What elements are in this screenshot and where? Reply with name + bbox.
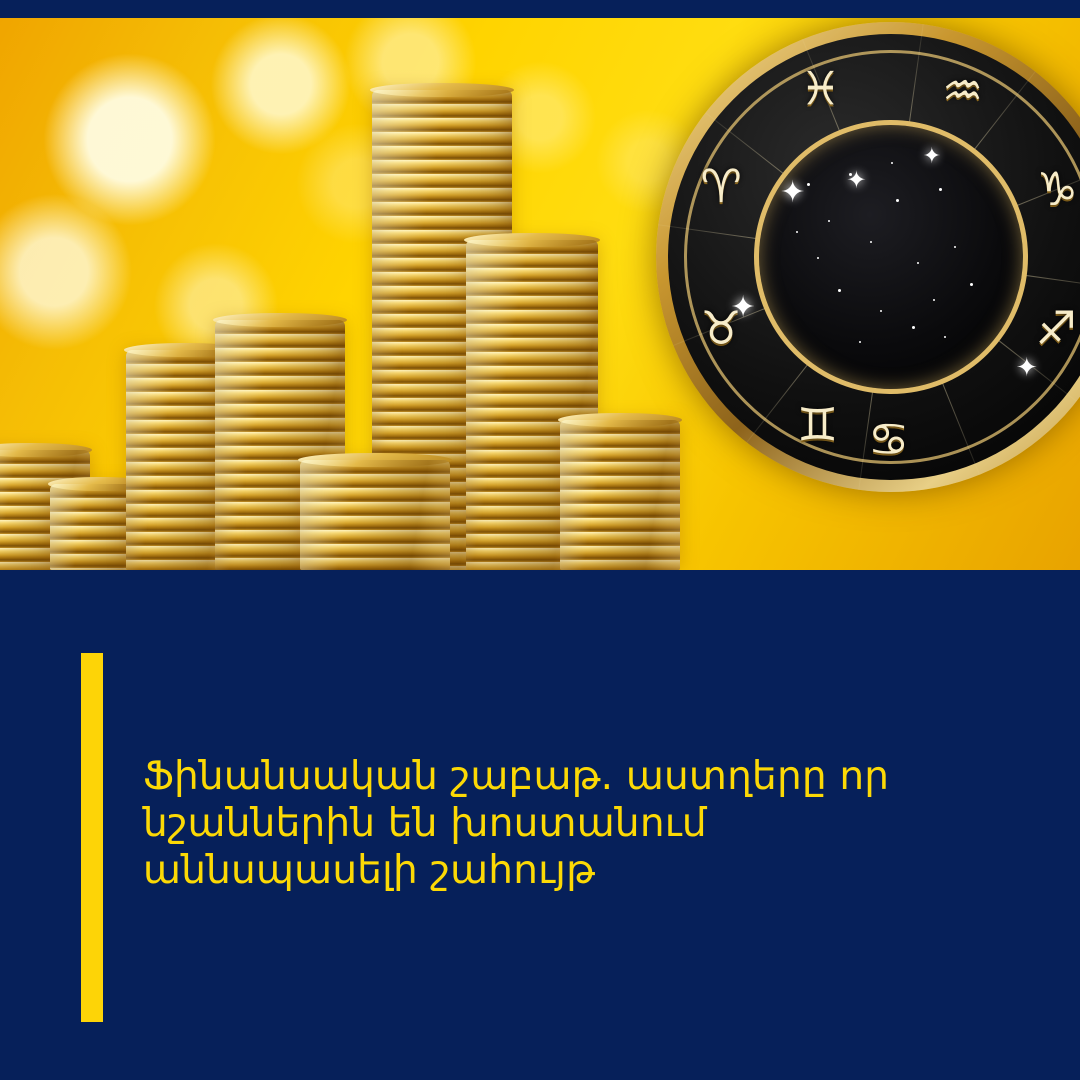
- sparkle-icon: ✦: [730, 293, 755, 323]
- coin-stack-right: [560, 420, 680, 570]
- social-post-card: ♐ ♑ ♒ ♓ ♈ ♉ ♊ ♋: [0, 0, 1080, 1080]
- zodiac-sign-pisces-icon: ♓: [800, 65, 841, 111]
- zodiac-sign-aries-icon: ♈: [700, 163, 741, 209]
- headline-line-1: Ֆինանսական շաբաթ. աստղերը որ: [143, 753, 1003, 800]
- headline-line-3: աննսպասելի շահույթ: [143, 847, 1003, 894]
- page-title: Ֆինանսական շաբաթ. աստղերը որ նշաններին ե…: [143, 753, 1003, 894]
- zodiac-sign-aquarius-icon: ♒: [942, 68, 983, 114]
- zodiac-starfield-disc: ✦ ✦: [754, 120, 1028, 394]
- coin-stack-foreground: [300, 460, 450, 570]
- zodiac-sign-capricorn-icon: ♑: [1037, 166, 1078, 212]
- headline-line-2: նշաններին են խոստանում: [143, 800, 1003, 847]
- zodiac-sign-sagittarius-icon: ♐: [1036, 305, 1077, 351]
- sparkle-icon: ✦: [923, 146, 941, 168]
- hero-image: ♐ ♑ ♒ ♓ ♈ ♉ ♊ ♋: [0, 18, 1080, 570]
- sparkle-icon: ✦: [780, 178, 805, 208]
- top-navy-strip: [0, 0, 1080, 18]
- zodiac-sign-gemini-icon: ♊: [797, 402, 838, 448]
- zodiac-sign-cancer-icon: ♋: [868, 416, 909, 462]
- accent-bar: [81, 653, 103, 1022]
- zodiac-outer-ring: ♐ ♑ ♒ ♓ ♈ ♉ ♊ ♋: [668, 34, 1080, 480]
- sparkle-icon: ✦: [1016, 355, 1038, 381]
- sparkle-icon: ✦: [846, 168, 866, 192]
- headline-panel: Ֆինանսական շաբաթ. աստղերը որ նշաններին ե…: [0, 570, 1080, 1080]
